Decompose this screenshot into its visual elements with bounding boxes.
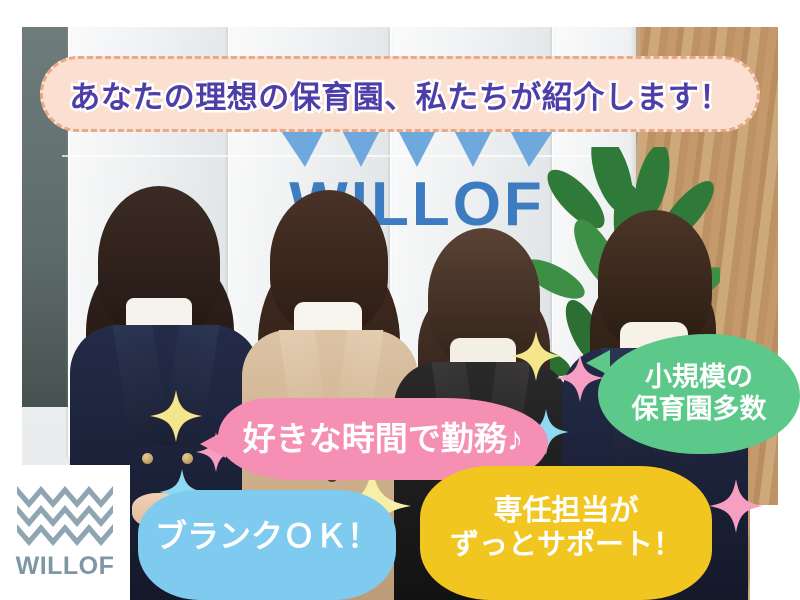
poster-canvas: WILLOF — [0, 0, 800, 600]
jacket-button — [182, 453, 193, 464]
photo-corner-crop — [750, 505, 778, 600]
bubble-blue-text: ブランクＯＫ！ — [155, 518, 379, 556]
bubble-green-line1: 小規模の — [645, 362, 753, 394]
bubble-yellow-line1: 専任担当が — [493, 494, 638, 528]
bubble-blank-ok: ブランクＯＫ！ — [138, 490, 396, 600]
bubble-pink-text: 好きな時間で勤務♪ — [243, 420, 524, 459]
headline-text: あなたの理想の保育園、私たちが紹介します！ — [69, 72, 731, 117]
jacket-button — [142, 453, 153, 464]
willof-wordmark: WILLOF — [16, 552, 115, 581]
lapel-right — [160, 325, 219, 445]
bubble-dedicated-support: 専任担当が ずっとサポート！ — [420, 466, 712, 600]
headline-banner: あなたの理想の保育園、私たちが紹介します！ — [40, 56, 760, 132]
bubble-yellow-line2: ずっとサポート！ — [450, 528, 682, 562]
willof-logo-card: WILLOF — [0, 465, 130, 600]
willof-zigzag-icon — [17, 484, 113, 546]
bubble-small-nursery: 小規模の 保育園多数 — [598, 334, 800, 454]
bubble-green-line2: 保育園多数 — [632, 394, 767, 426]
